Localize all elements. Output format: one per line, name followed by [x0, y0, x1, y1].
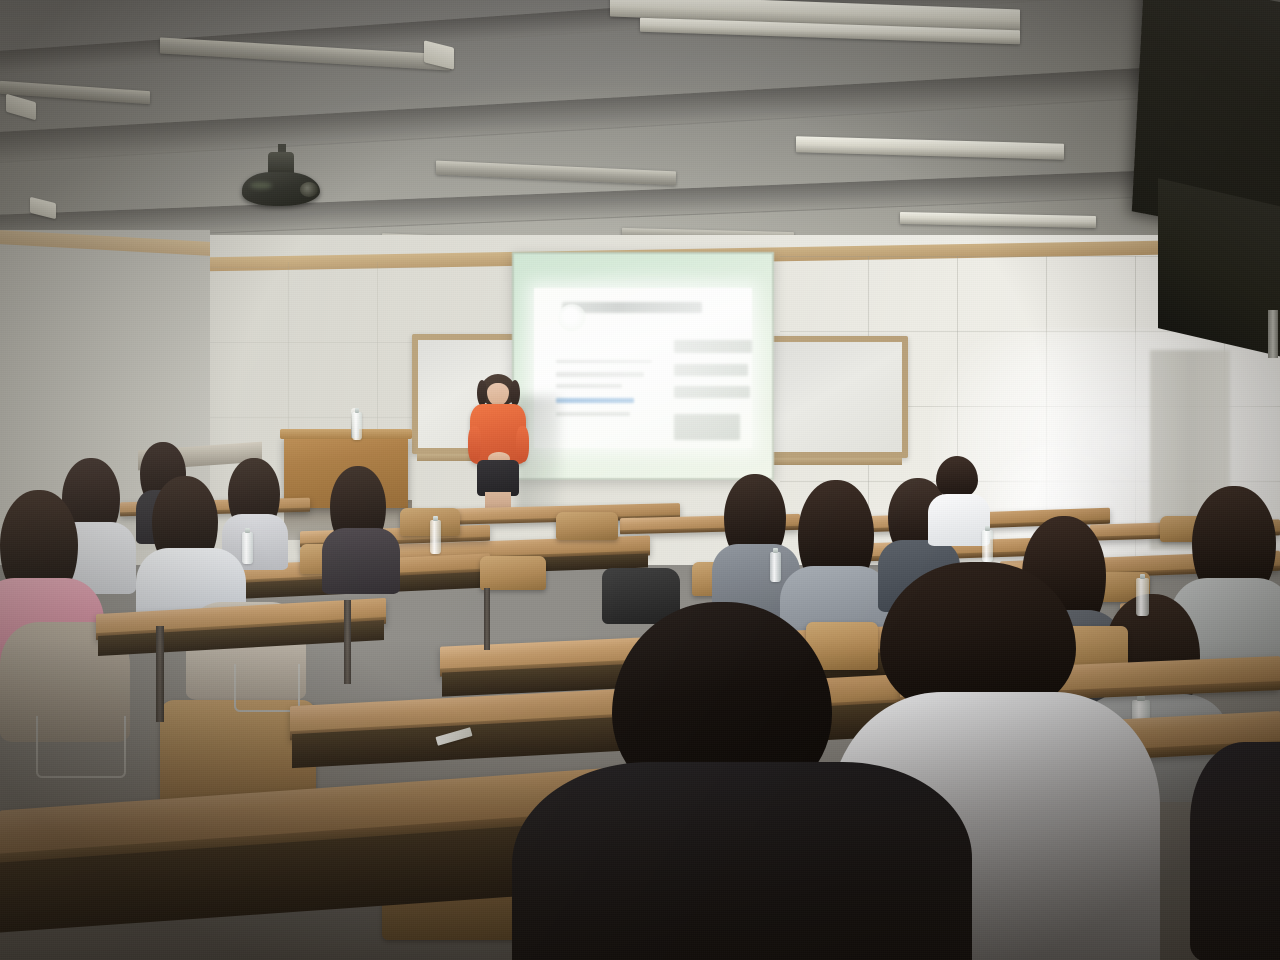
slide-logo-icon: [558, 304, 586, 332]
slide-text-line: [556, 412, 630, 416]
slide-content-block: [674, 386, 750, 398]
slide-highlight-line: [556, 398, 634, 403]
slide-content-block: [674, 414, 740, 440]
desk-leg: [344, 600, 351, 684]
desk-leg: [156, 626, 164, 722]
slide-text-line: [556, 384, 622, 388]
water-bottle: [770, 552, 781, 582]
wall-mounted-tv: [1130, 0, 1280, 360]
water-bottle-podium: [352, 412, 362, 440]
chair-frame: [234, 664, 300, 712]
projector-lens: [300, 182, 318, 197]
slide-content-block: [674, 340, 752, 353]
water-bottle: [982, 530, 993, 562]
chair-frame: [36, 716, 126, 778]
slide-text-line: [556, 360, 652, 363]
chair: [556, 512, 618, 540]
water-bottle: [430, 520, 441, 554]
slide-text-line: [556, 372, 644, 377]
ceiling-projector: [238, 152, 324, 208]
water-bottle: [1136, 578, 1149, 616]
slide-content-block: [674, 364, 748, 376]
desk-leg: [484, 588, 490, 650]
classroom-photo: [0, 0, 1280, 960]
whiteboard-right: [766, 336, 908, 458]
chair: [480, 556, 546, 590]
tv-mount-arm: [1268, 310, 1278, 358]
presenter-skirt: [477, 460, 519, 496]
water-bottle: [242, 532, 253, 564]
presentation-slide: [534, 288, 752, 448]
presenter: [466, 374, 530, 520]
